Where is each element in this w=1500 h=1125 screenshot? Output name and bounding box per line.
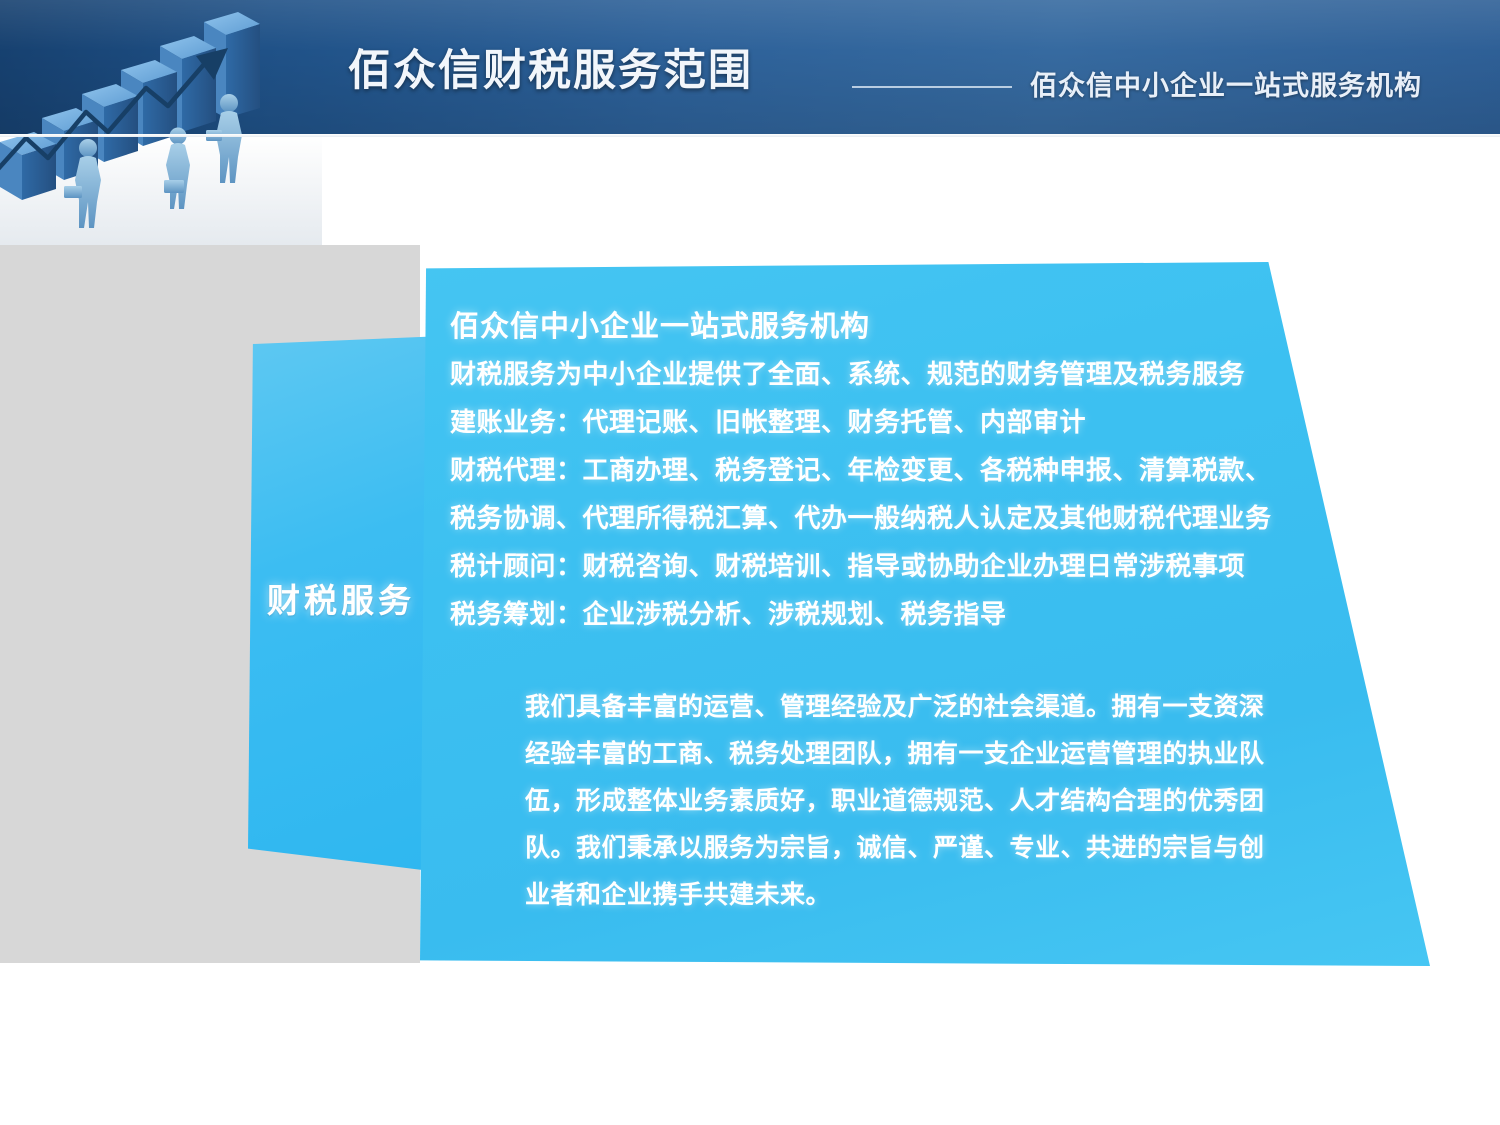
sidebar-item-fiscal-tax-service[interactable]: 财税服务 [248, 336, 444, 870]
content-heading: 佰众信中小企业一站式服务机构 [450, 304, 1350, 350]
company-description-paragraph: 我们具备丰富的运营、管理经验及广泛的社会渠道。拥有一支资深 经验丰富的工商、税务… [525, 684, 1325, 919]
content-panel: 佰众信中小企业一站式服务机构 财税服务为中小企业提供了全面、系统、规范的财务管理… [420, 262, 1430, 966]
header-divider-rule [852, 86, 1012, 88]
header-subtitle: 佰众信中小企业一站式服务机构 [1030, 70, 1422, 102]
paragraph-line: 经验丰富的工商、税务处理团队，拥有一支企业运营管理的执业队 [525, 731, 1325, 778]
service-line: 财税代理：工商办理、税务登记、年检变更、各税种申报、清算税款、 [450, 446, 1350, 494]
sidebar-item-label: 财税服务 [248, 336, 434, 870]
paragraph-line: 业者和企业携手共建未来。 [525, 872, 1325, 919]
header-underline [0, 134, 1500, 137]
paragraph-line: 伍，形成整体业务素质好，职业道德规范、人才结构合理的优秀团 [525, 778, 1325, 825]
paragraph-line: 队。我们秉承以服务为宗旨，诚信、严谨、专业、共进的宗旨与创 [525, 825, 1325, 872]
slide-canvas: 佰众信财税服务范围 佰众信中小企业一站式服务机构 财税服务 佰众信中小企业一站式… [0, 0, 1500, 1125]
paragraph-line: 我们具备丰富的运营、管理经验及广泛的社会渠道。拥有一支资深 [525, 684, 1325, 731]
page-title: 佰众信财税服务范围 [348, 47, 753, 95]
service-line: 税务筹划：企业涉税分析、涉税规划、税务指导 [450, 590, 1350, 638]
service-line: 财税服务为中小企业提供了全面、系统、规范的财务管理及税务服务 [450, 350, 1350, 398]
content-body: 佰众信中小企业一站式服务机构 财税服务为中小企业提供了全面、系统、规范的财务管理… [450, 304, 1350, 919]
growth-bar-chart-icon [0, 0, 322, 250]
service-line: 税务协调、代理所得税汇算、代办一般纳税人认定及其他财税代理业务 [450, 494, 1350, 542]
service-line: 税计顾问：财税咨询、财税培训、指导或协助企业办理日常涉税事项 [450, 542, 1350, 590]
service-line: 建账业务：代理记账、旧帐整理、财务托管、内部审计 [450, 398, 1350, 446]
